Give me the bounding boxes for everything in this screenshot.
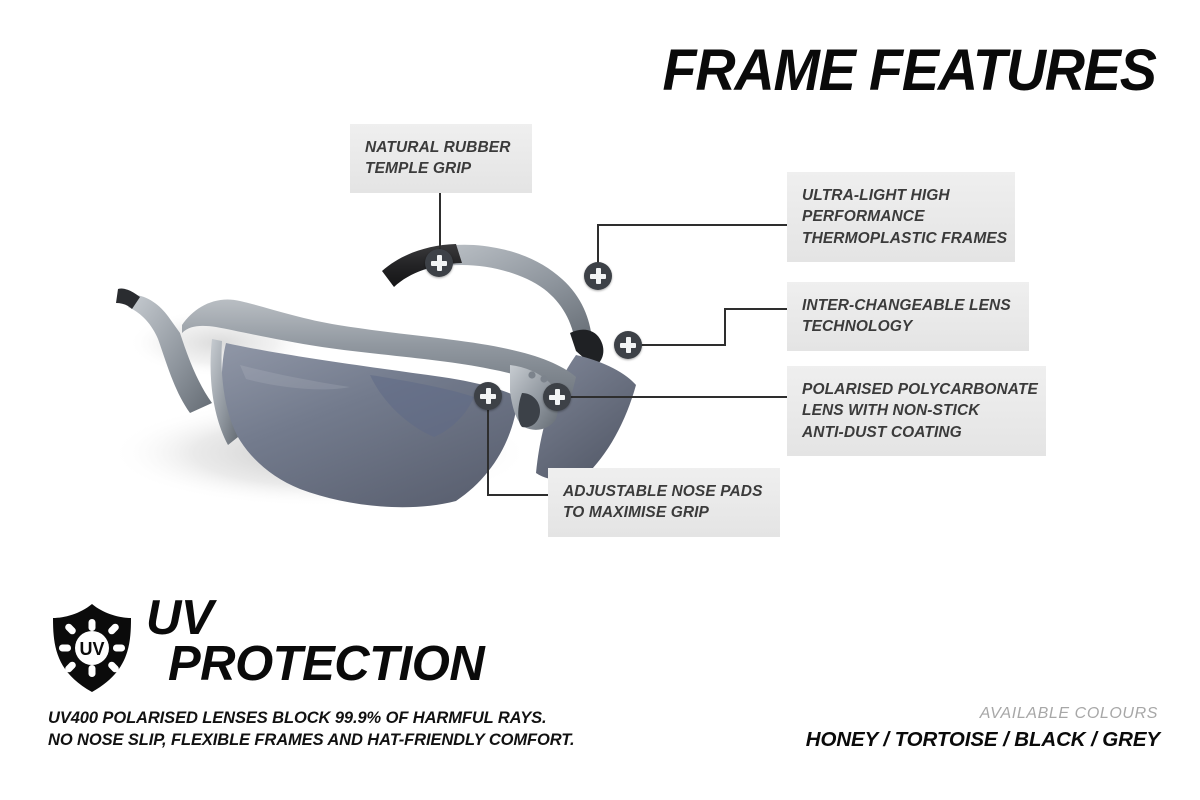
callout-line: POLARISED POLYCARBONATE — [802, 379, 1030, 400]
uv-protection-description: UV400 POLARISED LENSES BLOCK 99.9% OF HA… — [48, 708, 575, 752]
uv-heading-line-1: UV — [146, 596, 484, 642]
callout-nose-pads: ADJUSTABLE NOSE PADS TO MAXIMISE GRIP — [548, 468, 780, 537]
uv-heading-line-2: PROTECTION — [168, 642, 484, 688]
uv-badge-text: UV — [79, 639, 104, 659]
leader-line-polarised — [570, 396, 787, 398]
callout-line: ADJUSTABLE NOSE PADS — [563, 481, 764, 502]
callout-line: ANTI-DUST COATING — [802, 422, 1030, 443]
callout-line: TECHNOLOGY — [802, 316, 1013, 337]
uv-sub-line-1: UV400 POLARISED LENSES BLOCK 99.9% OF HA… — [48, 708, 575, 730]
callout-line: TEMPLE GRIP — [365, 158, 516, 179]
uv-sub-line-2: NO NOSE SLIP, FLEXIBLE FRAMES AND HAT-FR… — [48, 730, 575, 752]
plus-marker-thermoplastic[interactable] — [584, 262, 612, 290]
leader-line-nosepads-v — [487, 410, 489, 496]
plus-marker-interchangeable-lens[interactable] — [614, 331, 642, 359]
callout-line: THERMOPLASTIC FRAMES — [802, 228, 999, 249]
callout-line: TO MAXIMISE GRIP — [563, 502, 764, 523]
callout-line: NATURAL RUBBER — [365, 137, 516, 158]
available-colours-value: HONEY / TORTOISE / BLACK / GREY — [806, 728, 1160, 752]
infographic-canvas: FRAME FEATURES — [0, 0, 1200, 800]
callout-line: ULTRA-LIGHT HIGH — [802, 185, 999, 206]
callout-interchangeable-lens: INTER-CHANGEABLE LENS TECHNOLOGY — [787, 282, 1029, 351]
plus-marker-polarised-lens[interactable] — [543, 383, 571, 411]
uv-protection-heading: UV PROTECTION — [146, 596, 484, 687]
callout-temple-grip: NATURAL RUBBER TEMPLE GRIP — [350, 124, 532, 193]
callout-line: LENS WITH NON-STICK — [802, 400, 1030, 421]
page-title: FRAME FEATURES — [663, 42, 1156, 100]
leader-line-interchangeable-v — [724, 308, 726, 346]
callout-line: INTER-CHANGEABLE LENS — [802, 295, 1013, 316]
leader-line-thermoplastic-h — [597, 224, 787, 226]
leader-line-interchangeable-h2 — [724, 308, 787, 310]
plus-marker-temple-grip[interactable] — [425, 249, 453, 277]
callout-polarised-lens: POLARISED POLYCARBONATE LENS WITH NON-ST… — [787, 366, 1046, 456]
plus-marker-nose-pads[interactable] — [474, 382, 502, 410]
leader-line-nosepads-h — [487, 494, 548, 496]
uv-shield-icon: UV — [50, 602, 134, 694]
leader-line-interchangeable-h1 — [640, 344, 726, 346]
callout-line: PERFORMANCE — [802, 206, 999, 227]
callout-thermoplastic-frames: ULTRA-LIGHT HIGH PERFORMANCE THERMOPLAST… — [787, 172, 1015, 262]
available-colours-label: AVAILABLE COLOURS — [980, 705, 1158, 723]
